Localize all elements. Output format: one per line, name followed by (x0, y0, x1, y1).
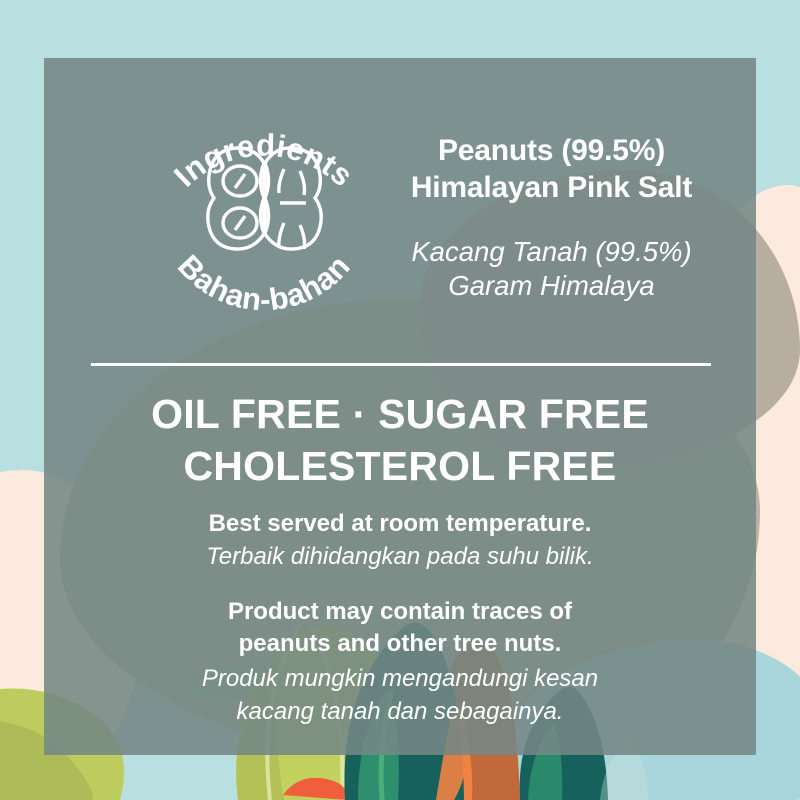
claim-line-1: OIL FREE · SUGAR FREE (44, 388, 756, 440)
allergen-en-line-2: peanuts and other tree nuts. (44, 628, 756, 660)
serving-english: Best served at room temperature. (44, 508, 756, 539)
allergen-ms-line-2: kacang tanah dan sebagainya. (44, 696, 756, 728)
ingredients-badge: Ingredients Bahan-bahan (134, 93, 394, 323)
allergen-ms-line-1: Produk mungkin mengandungi kesan (44, 663, 756, 695)
ingredients-malay: Kacang Tanah (99.5%) Garam Himalaya (374, 235, 729, 304)
ingredient-ms-line-1: Kacang Tanah (99.5%) (374, 235, 729, 269)
allergen-en-line-1: Product may contain traces of (44, 596, 756, 628)
claim-line-2: CHOLESTEROL FREE (44, 440, 756, 492)
ingredients-english: Peanuts (99.5%) Himalayan Pink Salt (374, 133, 729, 207)
ingredients-panel: Ingredients Bahan-bahan (44, 58, 756, 755)
product-claims: OIL FREE · SUGAR FREE CHOLESTEROL FREE (44, 388, 756, 493)
allergen-warning: Product may contain traces of peanuts an… (44, 596, 756, 728)
badge-bottom-arc-text: Bahan-bahan (171, 248, 357, 317)
allergen-english: Product may contain traces of peanuts an… (44, 596, 756, 659)
ingredient-en-line-1: Peanuts (99.5%) (374, 133, 729, 170)
ingredient-en-line-2: Himalayan Pink Salt (374, 170, 729, 207)
serving-instructions: Best served at room temperature. Terbaik… (44, 508, 756, 572)
allergen-malay: Produk mungkin mengandungi kesan kacang … (44, 663, 756, 727)
ingredient-ms-line-2: Garam Himalaya (374, 269, 729, 303)
serving-malay: Terbaik dihidangkan pada suhu bilik. (44, 541, 756, 572)
section-divider (91, 363, 711, 366)
ingredients-text-block: Peanuts (99.5%) Himalayan Pink Salt Kaca… (374, 133, 729, 304)
